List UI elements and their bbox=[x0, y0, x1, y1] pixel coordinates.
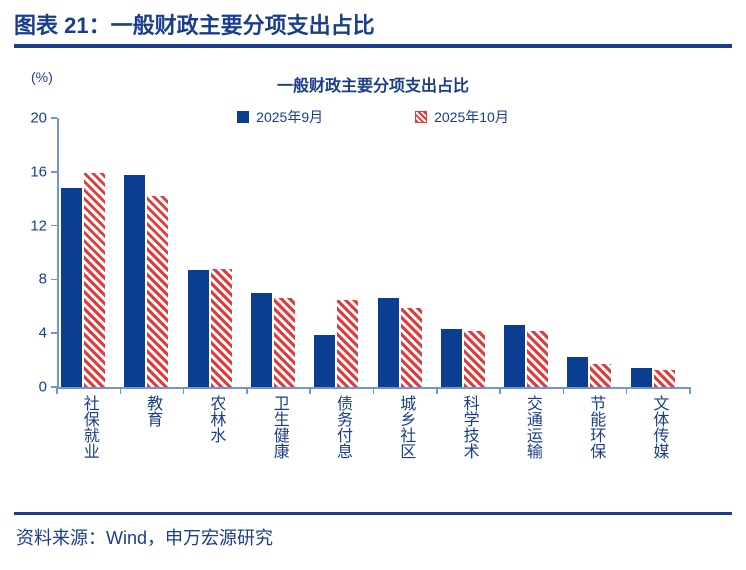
x-axis-tick bbox=[246, 387, 248, 394]
x-axis-tick bbox=[373, 387, 375, 394]
x-axis-category-label: 交通运输 bbox=[524, 395, 540, 459]
x-axis-tick bbox=[626, 387, 628, 394]
x-axis-tick bbox=[436, 387, 438, 394]
bar-series-1 bbox=[504, 325, 525, 387]
bar-series-2 bbox=[84, 173, 105, 387]
x-axis-category-label: 农林水 bbox=[207, 395, 223, 443]
x-axis-category-labels: 社保就业教育农林水卫生健康债务付息城乡社区科学技术交通运输节能环保文体传媒 bbox=[57, 395, 690, 505]
bar-series-1 bbox=[61, 188, 82, 387]
bar-series-2 bbox=[147, 196, 168, 387]
chart-container: (%) 一般财政主要分项支出占比 2025年9月 2025年10月 048121… bbox=[0, 52, 746, 504]
x-axis-category-label: 城乡社区 bbox=[397, 395, 413, 459]
bar-group bbox=[57, 118, 120, 387]
y-axis-tick-label: 4 bbox=[39, 325, 47, 342]
bar-series-2 bbox=[527, 331, 548, 387]
x-axis-tick bbox=[120, 387, 122, 394]
bar-series-1 bbox=[567, 357, 588, 387]
bar-group bbox=[563, 118, 626, 387]
x-axis-category-label: 节能环保 bbox=[587, 395, 603, 459]
bar-group bbox=[184, 118, 247, 387]
figure-page: 图表 21：一般财政主要分项支出占比 (%) 一般财政主要分项支出占比 2025… bbox=[0, 0, 746, 570]
bar-series-2 bbox=[337, 300, 358, 387]
x-axis-category-label: 卫生健康 bbox=[270, 395, 286, 459]
x-axis-category-label: 教育 bbox=[144, 395, 160, 427]
y-axis-tick-label: 8 bbox=[39, 271, 47, 288]
y-axis-tick-label: 20 bbox=[30, 110, 47, 127]
bar-series-1 bbox=[188, 270, 209, 387]
x-axis-category-label: 科学技术 bbox=[460, 395, 476, 459]
y-axis-tick-label: 0 bbox=[39, 379, 47, 396]
bar-series-2 bbox=[401, 308, 422, 387]
header-divider bbox=[14, 44, 732, 48]
x-axis-tick bbox=[563, 387, 565, 394]
bar-series-2 bbox=[274, 298, 295, 387]
chart-title: 一般财政主要分项支出占比 bbox=[0, 72, 746, 96]
figure-header: 图表 21：一般财政主要分项支出占比 bbox=[0, 0, 746, 48]
bar-series-2 bbox=[464, 331, 485, 387]
bar-series-2 bbox=[590, 364, 611, 387]
bar-series-2 bbox=[211, 269, 232, 387]
bar-group bbox=[247, 118, 310, 387]
bar-series-1 bbox=[631, 368, 652, 387]
bar-group bbox=[310, 118, 373, 387]
x-axis-tick bbox=[183, 387, 185, 394]
footer-divider bbox=[14, 512, 732, 515]
y-axis-tick-label: 12 bbox=[30, 217, 47, 234]
bar-series-1 bbox=[314, 335, 335, 387]
bar-group bbox=[374, 118, 437, 387]
x-axis-tick bbox=[309, 387, 311, 394]
bar-group bbox=[437, 118, 500, 387]
bar-series-1 bbox=[124, 175, 145, 388]
source-note: 资料来源：Wind，申万宏源研究 bbox=[16, 524, 273, 550]
bar-series-2 bbox=[654, 370, 675, 387]
x-axis-tick bbox=[689, 387, 691, 394]
y-axis-tick-label: 16 bbox=[30, 163, 47, 180]
x-axis-category-label: 债务付息 bbox=[334, 395, 350, 459]
bar-series-1 bbox=[378, 298, 399, 387]
plot-area: 048121620 bbox=[57, 118, 690, 387]
x-axis-category-label: 社保就业 bbox=[80, 395, 96, 459]
bar-group bbox=[500, 118, 563, 387]
bar-group bbox=[120, 118, 183, 387]
bar-series-1 bbox=[251, 293, 272, 387]
figure-caption: 图表 21：一般财政主要分项支出占比 bbox=[14, 8, 375, 40]
x-axis-category-label: 文体传媒 bbox=[650, 395, 666, 459]
x-axis-tick bbox=[56, 387, 58, 394]
x-axis-tick bbox=[499, 387, 501, 394]
bar-series-1 bbox=[441, 329, 462, 387]
bar-group bbox=[627, 118, 690, 387]
